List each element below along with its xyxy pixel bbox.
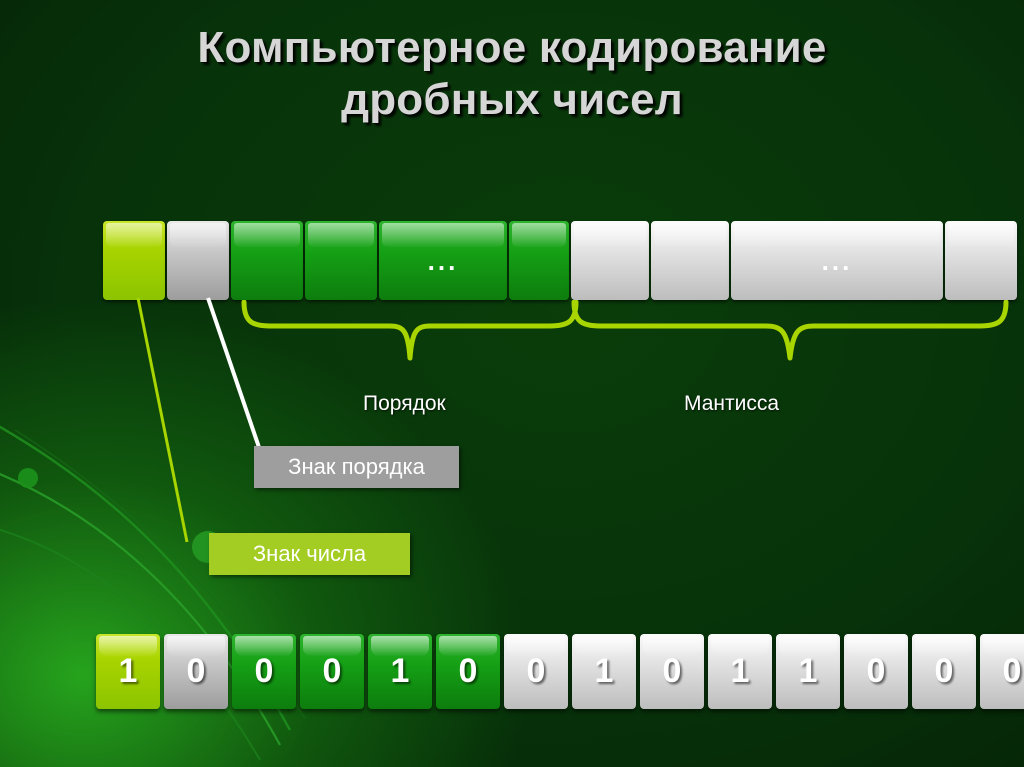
bit-cell-10[interactable]: 1 — [776, 634, 840, 709]
bit-cell-3[interactable]: 0 — [300, 634, 364, 709]
bit-value: 1 — [119, 652, 138, 691]
bit-cell-0[interactable]: 1 — [96, 634, 160, 709]
number-sign-callout[interactable]: Знак числа — [209, 533, 410, 575]
bit-field-diagram: ...... — [103, 221, 1019, 300]
bit-value: 0 — [663, 652, 682, 691]
bit-value: 1 — [595, 652, 614, 691]
bit-cell-9[interactable]: 1 — [708, 634, 772, 709]
mantissa-bits-middle[interactable]: ... — [731, 221, 943, 300]
exponent-bit-1[interactable] — [231, 221, 303, 300]
bit-value: 0 — [323, 652, 342, 691]
mantissa-bit-2[interactable] — [651, 221, 729, 300]
exponent-bit-2[interactable] — [305, 221, 377, 300]
exponent-bits-middle[interactable]: ... — [379, 221, 507, 300]
bit-cell-11[interactable]: 0 — [844, 634, 908, 709]
exponent-sign-leader-line — [200, 296, 280, 466]
bit-cell-6[interactable]: 0 — [504, 634, 568, 709]
mantissa-bit-1[interactable] — [571, 221, 649, 300]
exponent-sign-callout-label: Знак порядка — [288, 454, 425, 480]
number-sign-cell[interactable] — [103, 221, 165, 300]
bit-cell-12[interactable]: 0 — [912, 634, 976, 709]
exponent-sign-cell[interactable] — [167, 221, 229, 300]
number-sign-leader-line — [130, 296, 210, 546]
number-sign-callout-label: Знак числа — [253, 541, 366, 567]
bit-cell-8[interactable]: 0 — [640, 634, 704, 709]
bit-cell-5[interactable]: 0 — [436, 634, 500, 709]
exponent-brace — [240, 300, 580, 362]
bit-cell-2[interactable]: 0 — [232, 634, 296, 709]
bit-cell-13[interactable]: 0 — [980, 634, 1024, 709]
mantissa-bit-last[interactable] — [945, 221, 1017, 300]
bit-value: 0 — [459, 652, 478, 691]
page-title-line2: дробных чисел — [0, 74, 1024, 126]
bit-cell-7[interactable]: 1 — [572, 634, 636, 709]
page-title: Компьютерное кодирование дробных чисел — [0, 22, 1024, 126]
mantissa-brace — [570, 300, 1010, 362]
bit-value: 0 — [1003, 652, 1022, 691]
page-title-line1: Компьютерное кодирование — [197, 23, 826, 72]
bit-value: 1 — [799, 652, 818, 691]
bit-cell-4[interactable]: 1 — [368, 634, 432, 709]
bit-value: 0 — [187, 652, 206, 691]
exponent-bit-last[interactable] — [509, 221, 569, 300]
mantissa-label: Мантисса — [684, 392, 779, 416]
bit-value: 0 — [867, 652, 886, 691]
exponent-sign-callout[interactable]: Знак порядка — [254, 446, 459, 488]
bit-value: 1 — [731, 652, 750, 691]
exponent-label: Порядок — [363, 392, 446, 416]
bit-value: 0 — [255, 652, 274, 691]
bit-value: 0 — [935, 652, 954, 691]
bit-value-row: 10001001011000 — [96, 634, 1024, 709]
slide-canvas: Компьютерное кодирование дробных чисел .… — [0, 0, 1024, 767]
bit-cell-1[interactable]: 0 — [164, 634, 228, 709]
bit-value: 0 — [527, 652, 546, 691]
bit-value: 1 — [391, 652, 410, 691]
